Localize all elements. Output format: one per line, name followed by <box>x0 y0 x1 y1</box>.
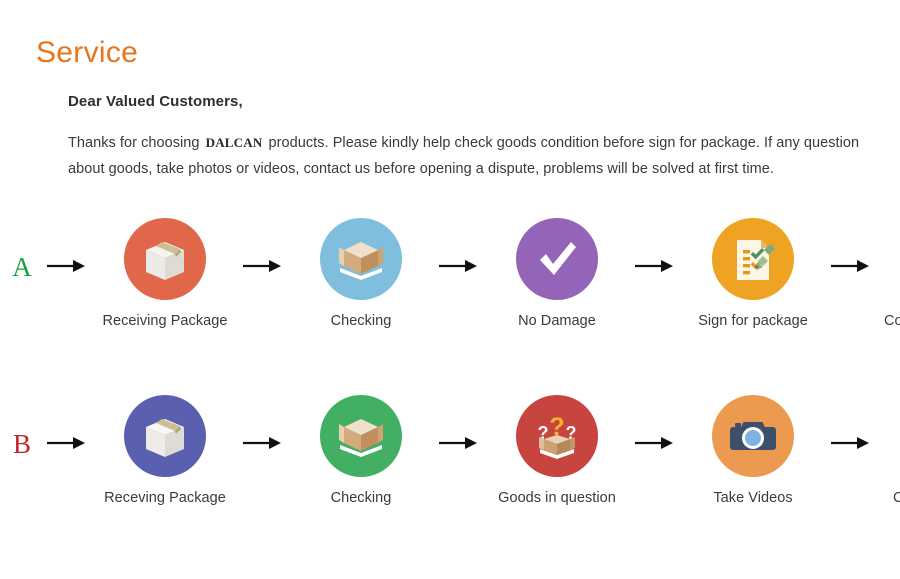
arrow-right-icon <box>44 395 90 491</box>
open-box-icon <box>320 395 402 477</box>
step-label: Receving Package <box>104 489 226 508</box>
step-label: Checking <box>331 312 392 331</box>
step-label: Take Videos <box>713 489 792 508</box>
paragraph-part-1: Thanks for choosing <box>68 135 200 151</box>
step-a-checking: Checking <box>286 218 436 331</box>
flow-row-a: A Receiving Package <box>0 218 900 331</box>
arrow-right-icon <box>240 395 286 491</box>
flow-row-b-letter: B <box>0 395 44 458</box>
step-b-checking: Checking <box>286 395 436 508</box>
step-a-no-damage: No Damage <box>482 218 632 331</box>
step-label: Sign for package <box>698 312 808 331</box>
step-b-goods-in-question: ? ? ? Goods in question <box>482 395 632 508</box>
arrow-right-icon <box>632 395 678 491</box>
arrow-right-icon <box>240 218 286 314</box>
arrow-right-icon <box>436 395 482 491</box>
arrow-right-icon <box>44 218 90 314</box>
arrow-right-icon <box>436 218 482 314</box>
step-label: Checking <box>331 489 392 508</box>
arrow-right-icon <box>828 395 874 491</box>
closed-box-icon <box>124 218 206 300</box>
question-box-icon: ? ? ? <box>516 395 598 477</box>
step-label: No Damage <box>518 312 596 331</box>
service-paragraph: Thanks for choosing DALCAN products. Ple… <box>68 130 892 182</box>
step-a-receiving-package: Receiving Package <box>90 218 240 331</box>
open-box-icon <box>320 218 402 300</box>
step-label: Confirm the delivery <box>884 312 900 331</box>
brand-name: DALCAN <box>204 135 265 150</box>
step-label: Receiving Package <box>103 312 228 331</box>
salutation-text: Dear Valued Customers, <box>68 93 243 110</box>
step-b-confirm-problem-refund-money: $ $ Confirm problem, refund money <box>874 395 900 527</box>
camera-icon <box>712 395 794 477</box>
step-label: Goods in question <box>498 489 616 508</box>
step-label: Confirm problem, refund money <box>893 489 900 527</box>
step-b-take-videos: Take Videos <box>678 395 828 508</box>
clipboard-pencil-icon <box>712 218 794 300</box>
page-title: Service <box>36 38 138 68</box>
step-a-sign-for-package: Sign for package <box>678 218 828 331</box>
checkmark-icon <box>516 218 598 300</box>
step-b-receving-package: Receving Package <box>90 395 240 508</box>
flow-row-a-letter: A <box>0 218 44 281</box>
flow-row-b: B Receving Package <box>0 395 900 527</box>
arrow-right-icon <box>828 218 874 314</box>
step-a-confirm-the-delivery: Confirm the delivery <box>874 218 900 331</box>
closed-box-icon <box>124 395 206 477</box>
arrow-right-icon <box>632 218 678 314</box>
